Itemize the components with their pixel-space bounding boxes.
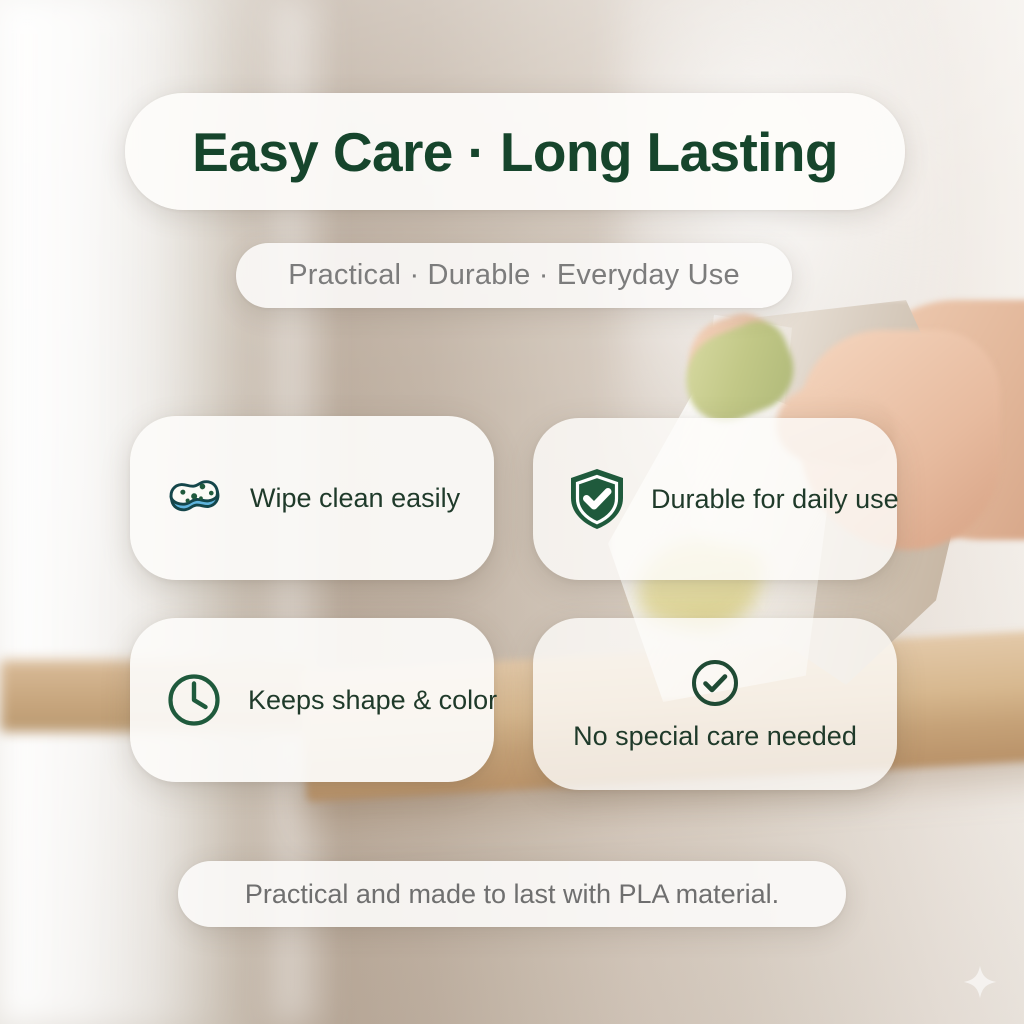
- shield-check-icon: [567, 467, 627, 531]
- title-banner: Easy Care · Long Lasting: [125, 93, 905, 210]
- footer-banner: Practical and made to last with PLA mate…: [178, 861, 846, 927]
- check-circle-icon: [689, 657, 741, 709]
- feature-card-no-special-care[interactable]: No special care needed: [533, 618, 897, 790]
- page-title: Easy Care · Long Lasting: [192, 120, 838, 184]
- subtitle-banner: Practical · Durable · Everyday Use: [236, 243, 792, 308]
- feature-label: Wipe clean easily: [250, 483, 460, 514]
- feature-card-keeps-shape[interactable]: Keeps shape & color: [130, 618, 494, 782]
- feature-label: Keeps shape & color: [248, 685, 497, 716]
- promo-graphic: Easy Care · Long Lasting Practical · Dur…: [0, 0, 1024, 1024]
- feature-card-durable[interactable]: Durable for daily use: [533, 418, 897, 580]
- footer-caption: Practical and made to last with PLA mate…: [245, 879, 779, 910]
- page-subtitle: Practical · Durable · Everyday Use: [288, 259, 740, 292]
- feature-label: No special care needed: [573, 721, 857, 752]
- clock-icon: [164, 670, 224, 730]
- feature-card-wipe-clean[interactable]: Wipe clean easily: [130, 416, 494, 580]
- feature-label: Durable for daily use: [651, 484, 899, 515]
- sparkle-icon: [962, 964, 998, 1000]
- sponge-icon: [164, 467, 226, 529]
